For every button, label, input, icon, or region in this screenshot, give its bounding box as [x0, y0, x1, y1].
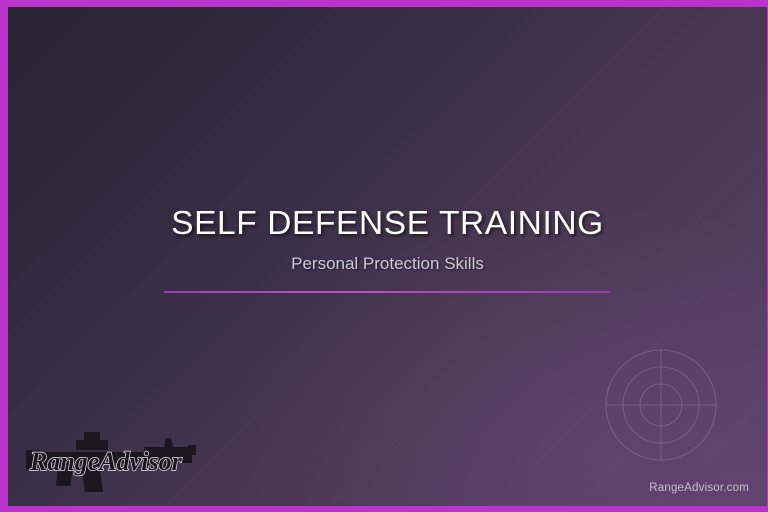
title-divider — [164, 291, 611, 293]
brand-wordmark-text: RangeAdvisor — [29, 447, 183, 476]
slide-canvas: SELF DEFENSE TRAINING Personal Protectio… — [8, 7, 767, 506]
brand-logo: RangeAdvisor — [24, 422, 204, 494]
page-subtitle: Personal Protection Skills — [291, 255, 484, 274]
brand-wordmark: RangeAdvisor — [29, 447, 183, 476]
footer-url: RangeAdvisor.com — [649, 482, 749, 494]
slide-frame: SELF DEFENSE TRAINING Personal Protectio… — [0, 0, 768, 512]
page-title: SELF DEFENSE TRAINING — [171, 206, 604, 243]
